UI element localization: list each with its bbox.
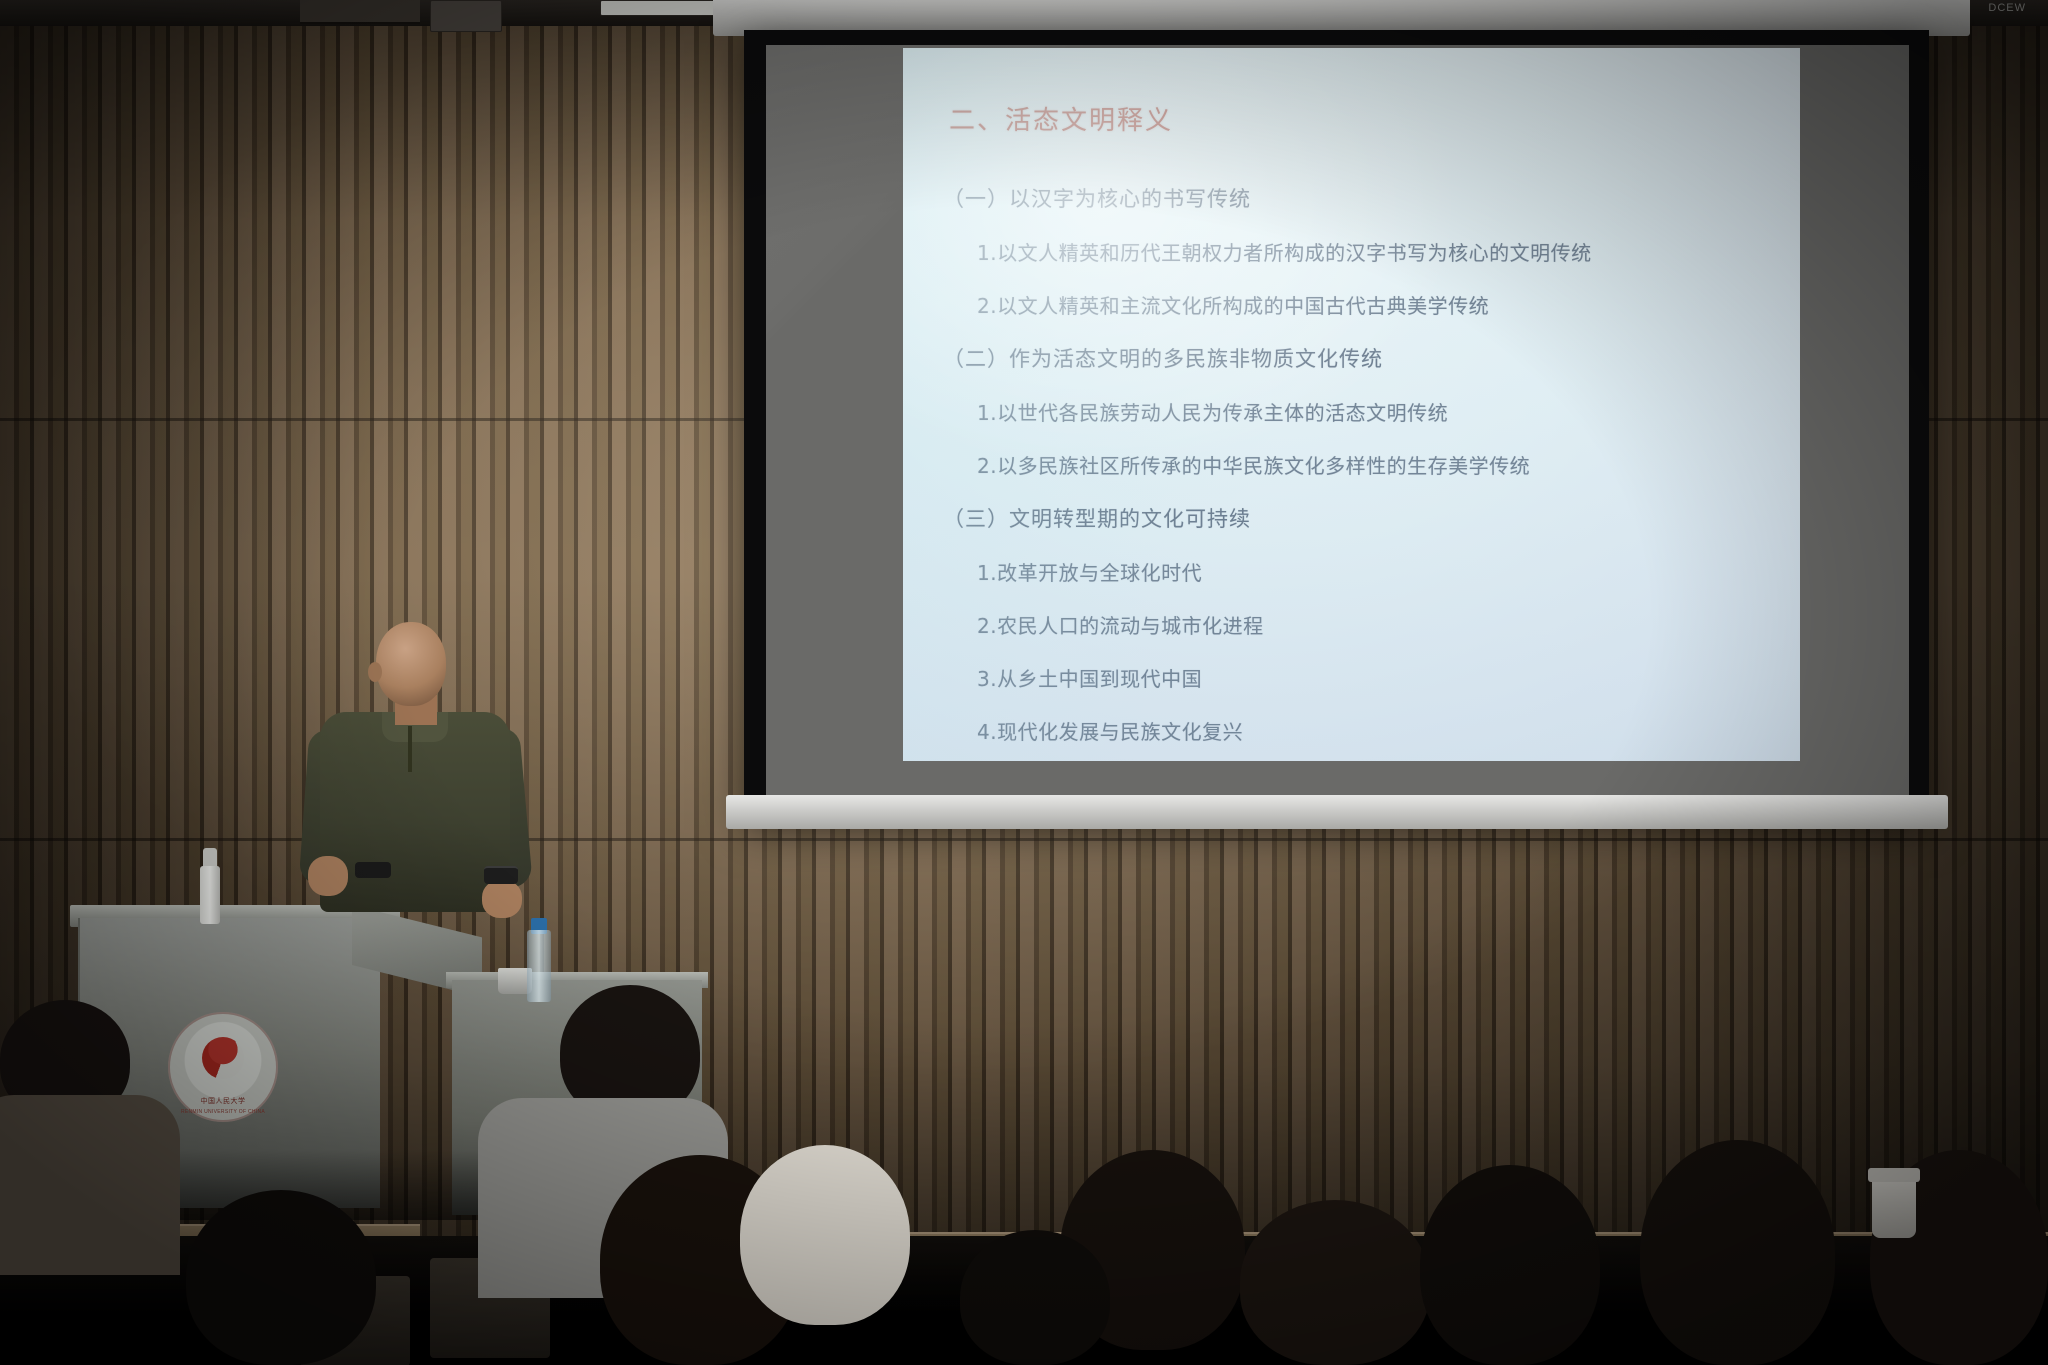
slide-section-1-item-2: 2.以文人精英和主流文化所构成的中国古代古典美学传统 xyxy=(977,290,1774,319)
slide-section-3-item-1: 1.改革开放与全球化时代 xyxy=(977,557,1774,586)
projected-slide: 二、活态文明释义 （一）以汉字为核心的书写传统 1.以文人精英和历代王朝权力者所… xyxy=(903,48,1800,761)
slide-section-3-item-4: 4.现代化发展与民族文化复兴 xyxy=(977,716,1774,745)
slide-section-heading-3: （三）文明转型期的文化可持续 xyxy=(943,503,1774,533)
slide-section-3-item-3: 3.从乡土中国到现代中国 xyxy=(977,663,1774,692)
slide-section-heading-2: （二）作为活态文明的多民族非物质文化传统 xyxy=(943,343,1774,373)
university-emblem: 中国人民大学 RENMIN UNIVERSITY OF CHINA xyxy=(168,1012,278,1122)
hand-sanitizer-bottle xyxy=(200,866,220,924)
audience-head xyxy=(1240,1200,1430,1365)
emblem-mark-icon xyxy=(202,1037,244,1079)
lecture-hall-photo: DCEW 二、活态文明释义 （一）以汉字为核心的书写传统 1.以文人精英和历代王… xyxy=(0,0,2048,1365)
ceiling-fixture xyxy=(430,0,502,32)
audience-head xyxy=(740,1145,910,1325)
emblem-name-cn: 中国人民大学 xyxy=(168,1096,278,1106)
coffee-cup-lid-icon xyxy=(1868,1168,1920,1182)
audience-head xyxy=(1640,1140,1835,1365)
ceiling-vent xyxy=(300,0,420,24)
slide-section-heading-1: （一）以汉字为核心的书写传统 xyxy=(943,183,1774,213)
emblem-name-en: RENMIN UNIVERSITY OF CHINA xyxy=(168,1109,278,1115)
audience-head xyxy=(1420,1165,1600,1365)
speaker-left-hand xyxy=(308,856,348,896)
audience-head xyxy=(960,1230,1110,1365)
speaker-torso xyxy=(320,712,510,912)
speaker-right-hand xyxy=(482,880,522,918)
projector-brand-label: DCEW xyxy=(1988,2,2026,14)
slide-title: 二、活态文明释义 xyxy=(949,100,1774,137)
wristwatch xyxy=(484,866,518,884)
coffee-cup xyxy=(1872,1176,1916,1238)
speaker-ear xyxy=(368,662,382,682)
screen-bottom-bar xyxy=(726,795,1948,829)
sanitizer-pump-icon xyxy=(203,848,217,868)
speaker-head xyxy=(376,622,446,706)
water-bottle xyxy=(527,930,551,1002)
presentation-clicker xyxy=(355,862,391,878)
speaker-shirt-placket xyxy=(408,726,412,772)
audience-head xyxy=(186,1190,376,1365)
audience-body xyxy=(0,1095,180,1275)
slide-section-3-item-2: 2.农民人口的流动与城市化进程 xyxy=(977,610,1774,639)
slide-content: 二、活态文明释义 （一）以汉字为核心的书写传统 1.以文人精英和历代王朝权力者所… xyxy=(903,48,1800,761)
slide-section-2-item-1: 1.以世代各民族劳动人民为传承主体的活态文明传统 xyxy=(977,397,1774,426)
slide-section-2-item-2: 2.以多民族社区所传承的中华民族文化多样性的生存美学传统 xyxy=(977,450,1774,479)
slide-section-1-item-1: 1.以文人精英和历代王朝权力者所构成的汉字书写为核心的文明传统 xyxy=(977,237,1774,266)
